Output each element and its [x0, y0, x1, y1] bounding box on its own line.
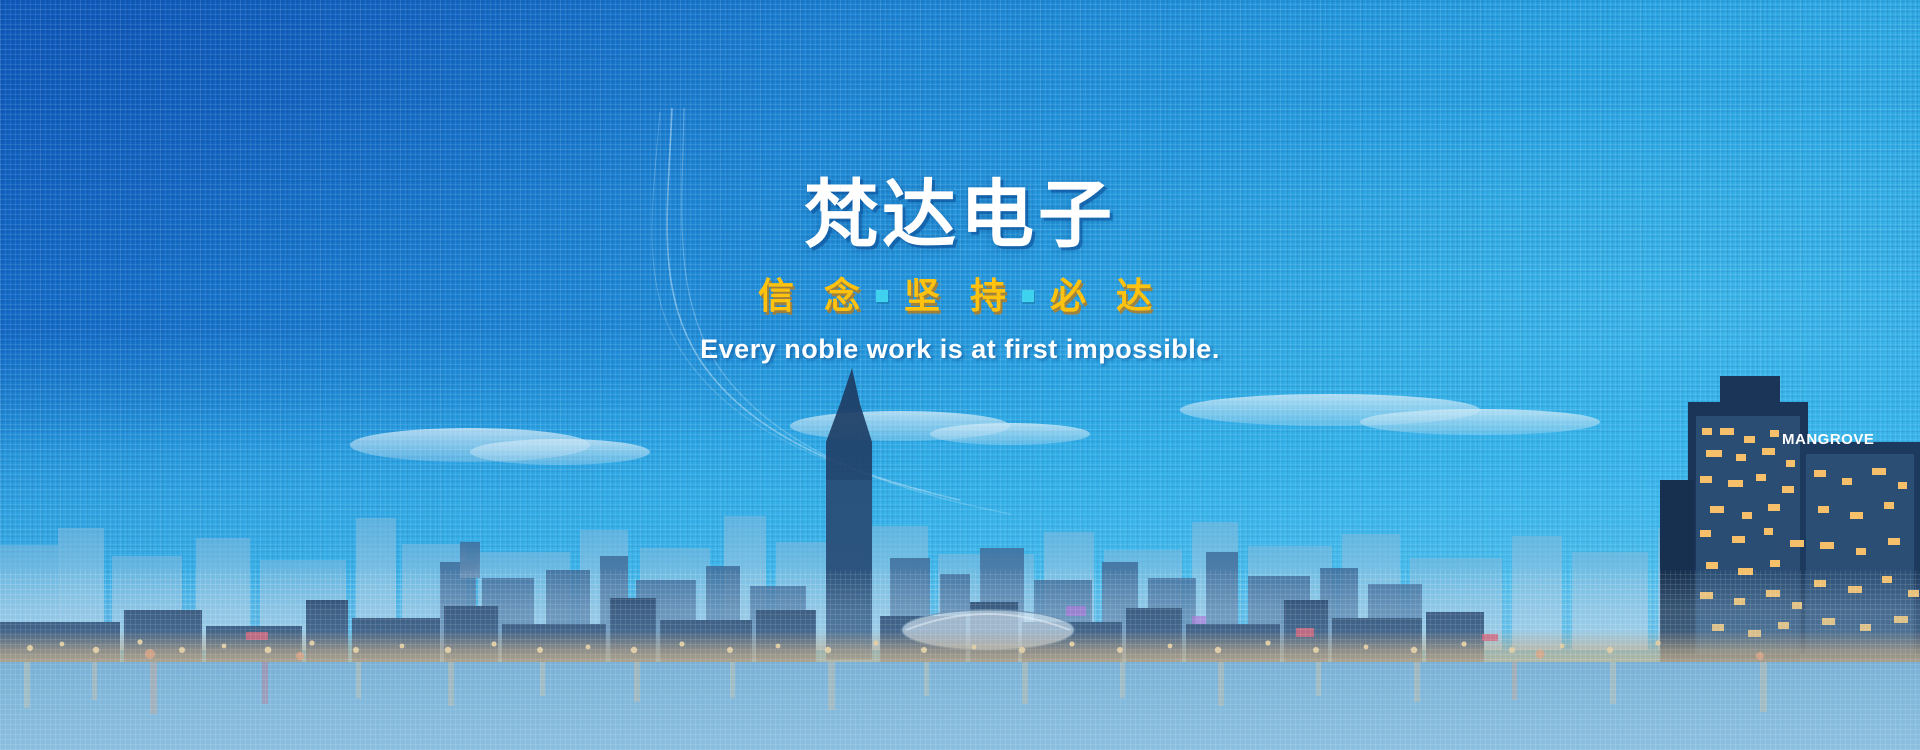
cloud-band: [350, 394, 1600, 465]
mangrove-sign-text: MANGROVE: [1782, 431, 1874, 448]
water-surface: [0, 662, 1920, 750]
mangrove-tower-building: MANGROVE: [1660, 376, 1920, 662]
city-skyline-illustration: MANGROVE: [0, 330, 1920, 750]
hero-banner: MANGROVE: [0, 0, 1920, 750]
waterfront-light-band: [0, 630, 1920, 664]
